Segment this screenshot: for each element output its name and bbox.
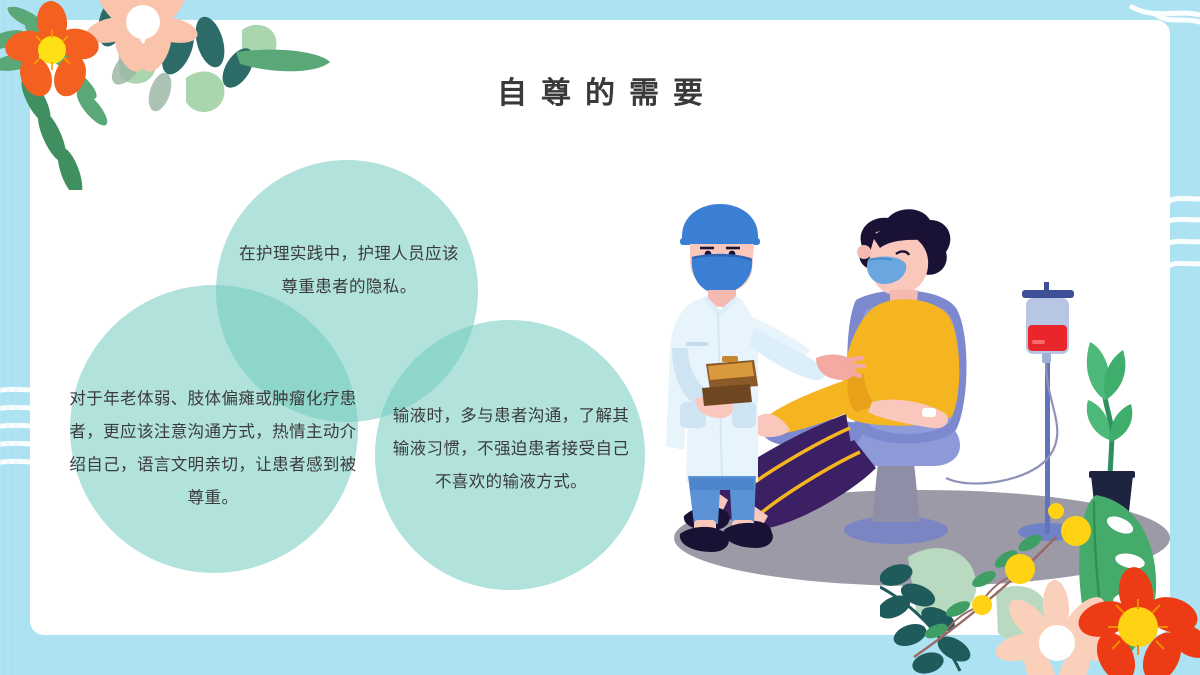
elderly-care-circle-text: 对于年老体弱、肢体偏瘫或肿瘤化疗患者，更应该注意沟通方式，热情主动介绍自己，语言… (63, 383, 363, 515)
floral-corner-top-left (0, 0, 330, 190)
floral-corner-bottom-right (880, 495, 1200, 675)
privacy-circle-text: 在护理实践中，护理人员应该尊重患者的隐私。 (235, 238, 463, 304)
infusion-circle-text: 输液时，多与患者沟通，了解其输液习惯，不强迫患者接受自己不喜欢的输液方式。 (385, 400, 637, 499)
